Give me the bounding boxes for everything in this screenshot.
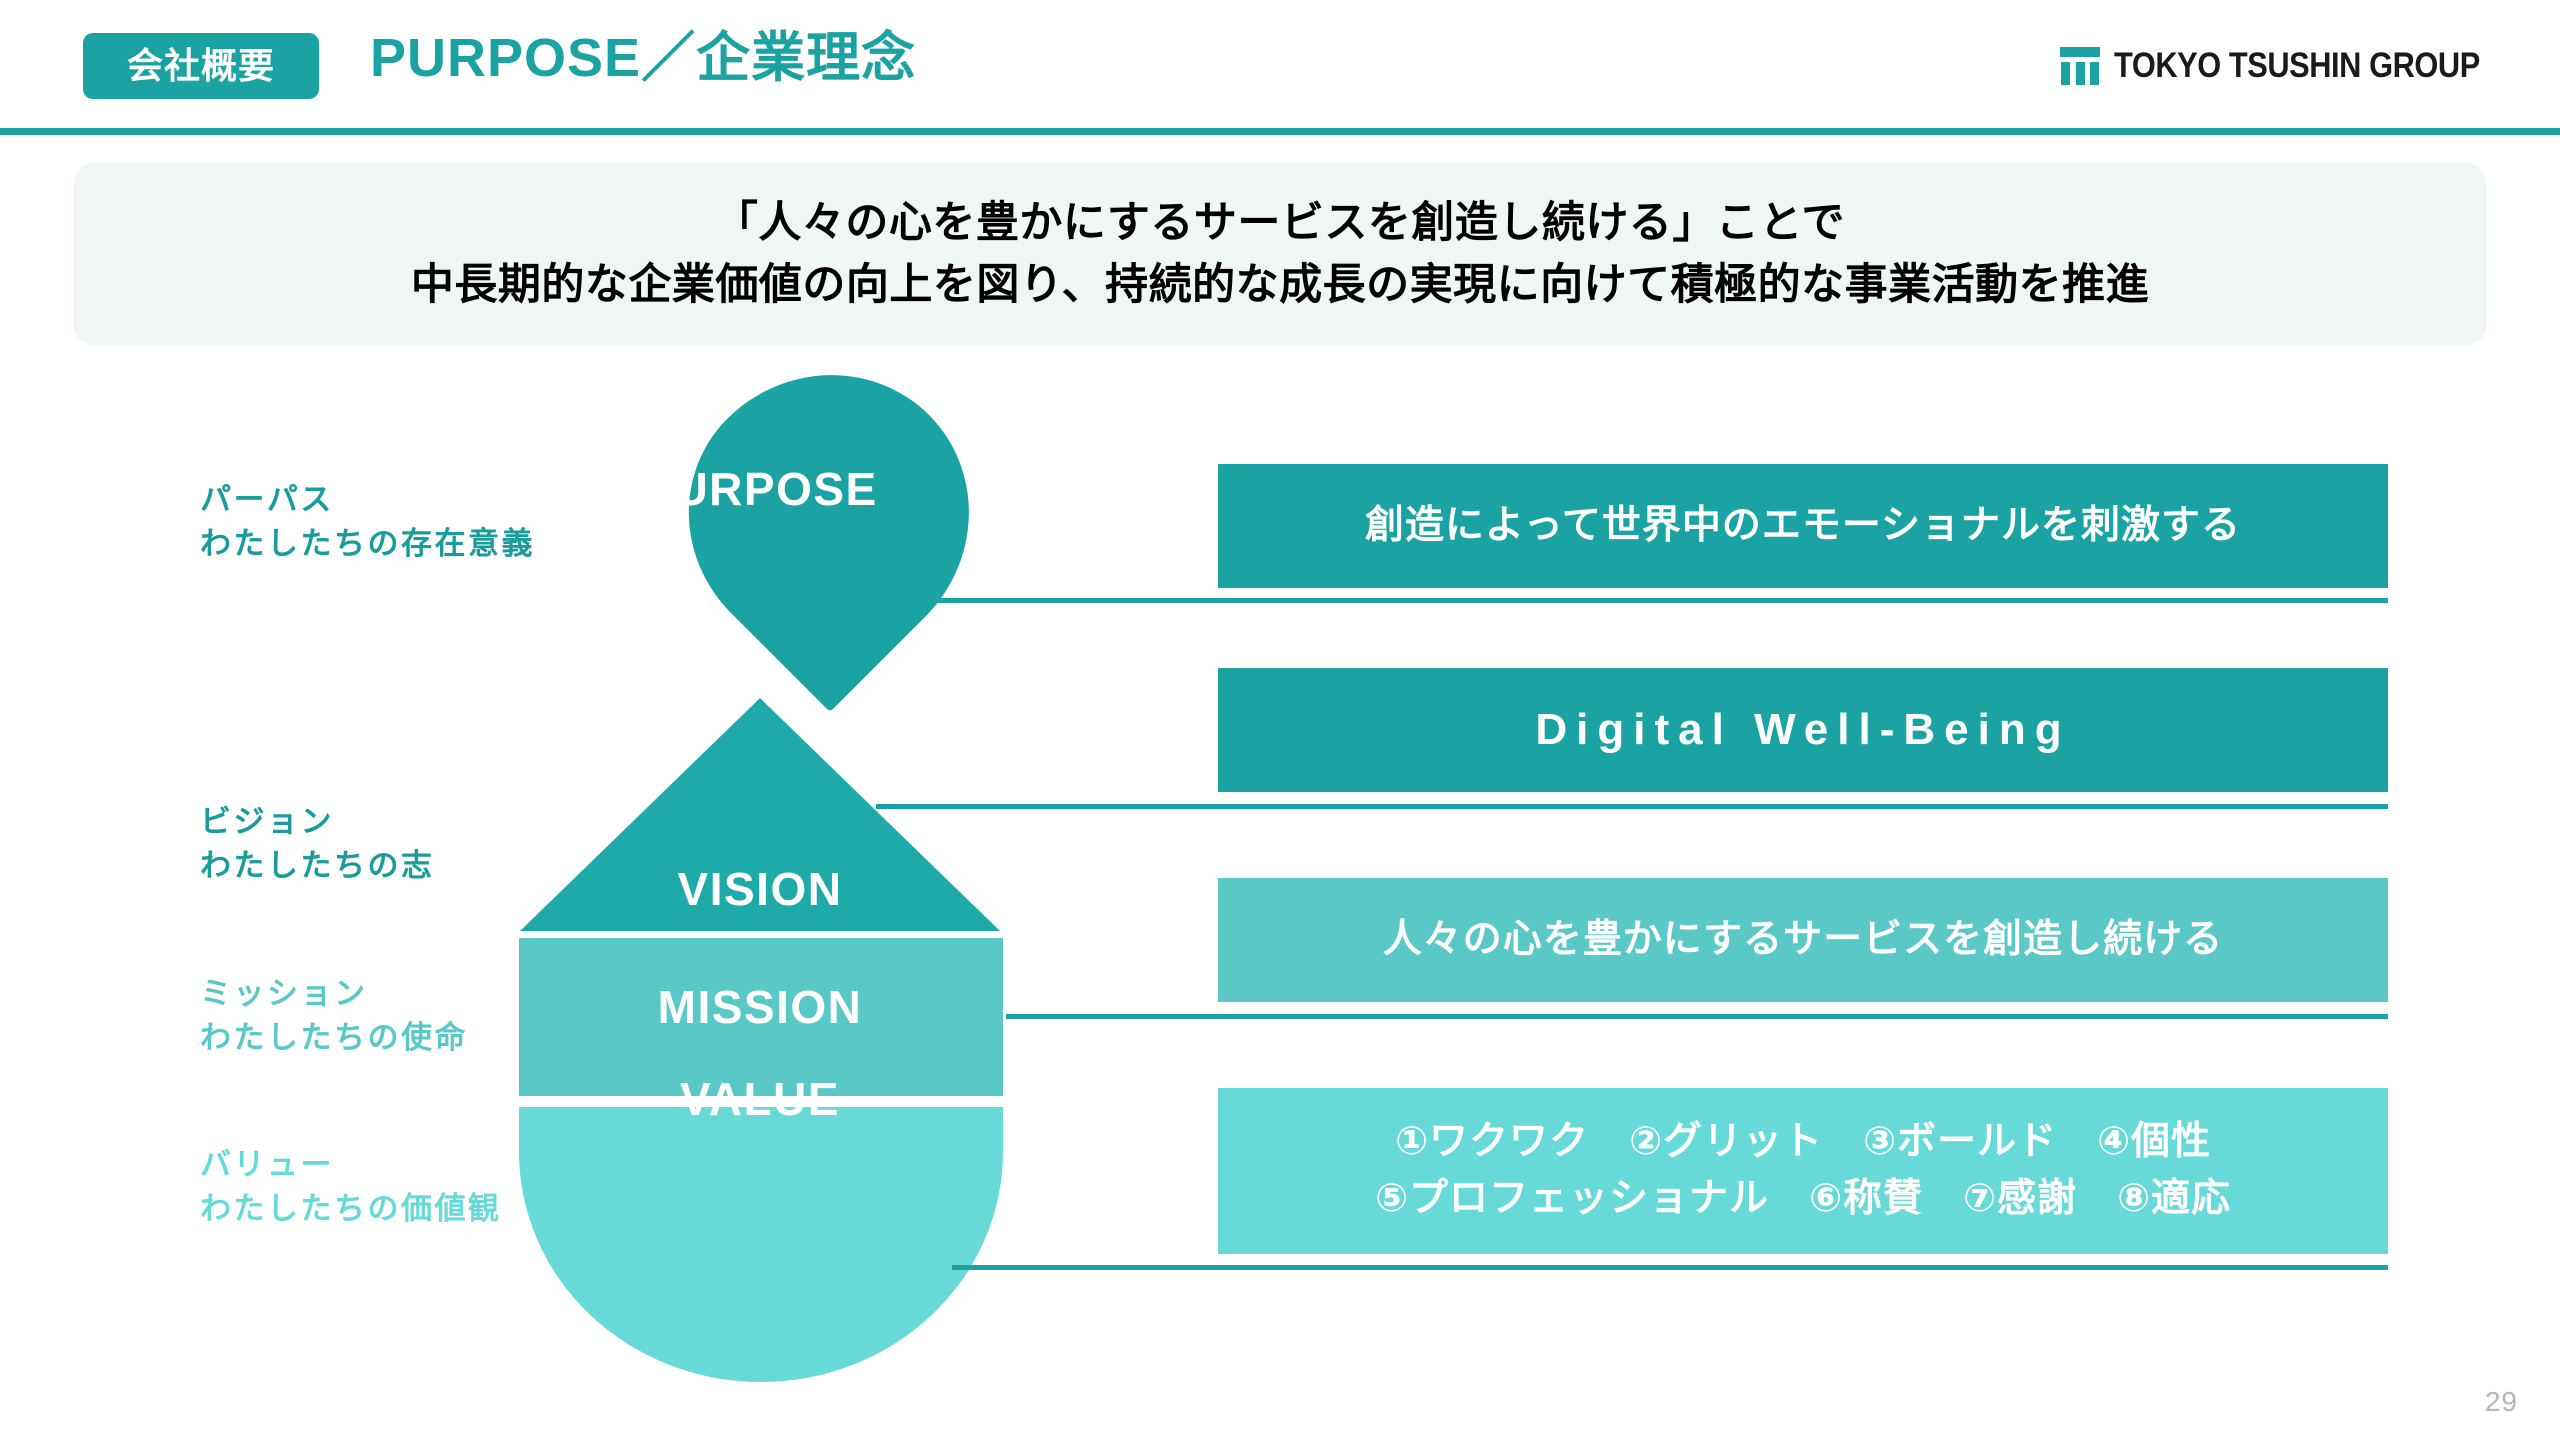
tier-label-value-kana: バリュー	[200, 1143, 502, 1187]
slide-header: 会社概要 PURPOSE／企業理念 TOKYO TSUSHIN GROUP	[0, 0, 2560, 134]
droplet-label-vision: VISION	[520, 862, 1000, 916]
statement-text-mission: 人々の心を豊かにするサービスを創造し続ける	[1383, 912, 2223, 969]
tier-label-purpose: パーパス わたしたちの存在意義	[200, 478, 535, 566]
tier-label-mission: ミッション わたしたちの使命	[200, 972, 468, 1060]
droplet-band-value	[519, 1107, 1003, 1382]
droplet-segment-purpose	[590, 374, 930, 704]
tier-label-purpose-description: わたしたちの存在意義	[200, 522, 535, 566]
statement-box-purpose: 創造によって世界中のエモーショナルを刺激する	[1218, 464, 2388, 588]
tier-label-mission-kana: ミッション	[200, 972, 468, 1016]
connector-line-purpose	[900, 598, 2388, 603]
header-divider	[0, 128, 2560, 135]
brand-logo-text: TOKYO TSUSHIN GROUP	[2114, 46, 2480, 86]
statement-text-value-line-1: ①ワクワク ②グリット ③ボールド ④個性	[1395, 1114, 2211, 1171]
statement-box-value: ①ワクワク ②グリット ③ボールド ④個性 ⑤プロフェッショナル ⑥称賛 ⑦感謝…	[1218, 1088, 2388, 1254]
connector-line-mission	[1006, 1014, 2388, 1019]
tier-label-mission-description: わたしたちの使命	[200, 1016, 468, 1060]
tier-label-vision: ビジョン わたしたちの志	[200, 800, 435, 888]
droplet-label-value: VALUE	[520, 1072, 1000, 1126]
summary-line-1: 「人々の心を豊かにするサービスを創造し続ける」ことで	[715, 192, 1845, 254]
statement-text-value-line-2: ⑤プロフェッショナル ⑥称賛 ⑦感謝 ⑧適応	[1375, 1171, 2231, 1228]
purpose-droplet-diagram: PURPOSE VISION MISSION VALUE	[520, 372, 1020, 1382]
category-badge-label: 会社概要	[127, 48, 275, 84]
tier-label-vision-description: わたしたちの志	[200, 844, 435, 888]
summary-line-2: 中長期的な企業価値の向上を図り、持続的な成長の実現に向けて積極的な事業活動を推進	[411, 254, 2149, 316]
page-title: PURPOSE／企業理念	[370, 26, 916, 91]
summary-banner: 「人々の心を豊かにするサービスを創造し続ける」ことで 中長期的な企業価値の向上を…	[73, 163, 2487, 345]
slide-canvas: 会社概要 PURPOSE／企業理念 TOKYO TSUSHIN GROUP 「人…	[0, 0, 2560, 1440]
tier-label-value: バリュー わたしたちの価値観	[200, 1143, 502, 1231]
connector-line-value	[952, 1265, 2388, 1270]
connector-line-vision	[876, 804, 2388, 809]
tier-label-vision-kana: ビジョン	[200, 800, 435, 844]
droplet-label-mission: MISSION	[520, 980, 1000, 1034]
statement-box-mission: 人々の心を豊かにするサービスを創造し続ける	[1218, 878, 2388, 1002]
page-number: 29	[2485, 1386, 2518, 1418]
category-badge: 会社概要	[83, 33, 319, 99]
droplet-label-purpose: PURPOSE	[520, 462, 1000, 516]
statement-text-purpose: 創造によって世界中のエモーショナルを刺激する	[1365, 498, 2241, 555]
three-pillars-icon	[2060, 47, 2100, 85]
statement-box-vision: Digital Well-Being	[1218, 668, 2388, 792]
tier-label-purpose-kana: パーパス	[200, 478, 535, 522]
statement-text-vision: Digital Well-Being	[1535, 698, 2070, 762]
brand-logo: TOKYO TSUSHIN GROUP	[2060, 46, 2530, 86]
tier-label-value-description: わたしたちの価値観	[200, 1187, 502, 1231]
